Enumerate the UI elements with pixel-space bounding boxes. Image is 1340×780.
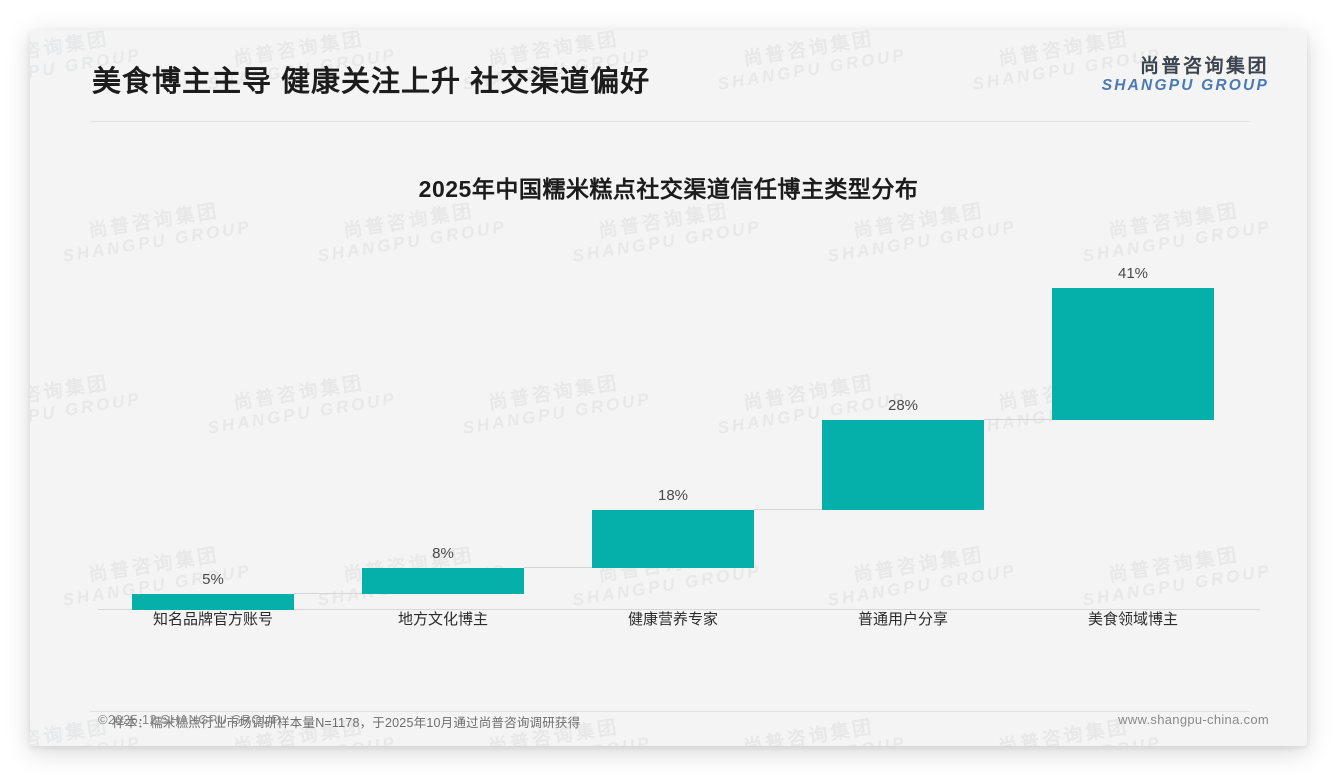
waterfall-chart: 5%8%18%28%41%	[70, 220, 1270, 610]
screenshot-stage: 尚普咨询集团SHANGPU GROUP尚普咨询集团SHANGPU GROUP尚普…	[0, 0, 1340, 780]
bar-value-label: 8%	[383, 545, 503, 562]
chart-title: 2025年中国糯米糕点社交渠道信任博主类型分布	[30, 170, 1307, 204]
category-label: 普通用户分享	[793, 608, 1013, 629]
waterfall-connector	[754, 509, 822, 510]
slide-footer: ©2025.12 SHANGPU GROUP www.shangpu-china…	[30, 712, 1307, 738]
category-axis: 知名品牌官方账号地方文化博主健康营养专家普通用户分享美食领域博主	[70, 608, 1270, 638]
bar-value-label: 5%	[153, 571, 273, 588]
waterfall-bar	[362, 568, 524, 594]
waterfall-bar	[592, 510, 754, 568]
slide-header: 美食博主主导 健康关注上升 社交渠道偏好 尚普咨询集团 SHANGPU GROU…	[30, 30, 1307, 120]
waterfall-bar	[1052, 288, 1214, 420]
website-link[interactable]: www.shangpu-china.com	[1118, 712, 1269, 727]
slide-card: 尚普咨询集团SHANGPU GROUP尚普咨询集团SHANGPU GROUP尚普…	[30, 30, 1307, 746]
brand-logo: 尚普咨询集团 SHANGPU GROUP	[1102, 56, 1269, 95]
waterfall-connector	[524, 567, 592, 568]
category-label: 知名品牌官方账号	[103, 608, 323, 629]
header-divider	[90, 121, 1250, 122]
waterfall-connector	[984, 419, 1052, 420]
page-title: 美食博主主导 健康关注上升 社交渠道偏好	[92, 58, 650, 100]
category-label: 美食领域博主	[1023, 608, 1243, 629]
logo-chinese-text: 尚普咨询集团	[1102, 56, 1269, 77]
bar-value-label: 18%	[613, 487, 733, 504]
copyright-text: ©2025.12 SHANGPU GROUP	[98, 712, 280, 727]
bar-value-label: 41%	[1073, 265, 1193, 282]
category-label: 地方文化博主	[333, 608, 553, 629]
bar-value-label: 28%	[843, 397, 963, 414]
category-label: 健康营养专家	[563, 608, 783, 629]
waterfall-connector	[294, 593, 362, 594]
waterfall-bar	[822, 420, 984, 510]
logo-english-text: SHANGPU GROUP	[1102, 77, 1269, 94]
